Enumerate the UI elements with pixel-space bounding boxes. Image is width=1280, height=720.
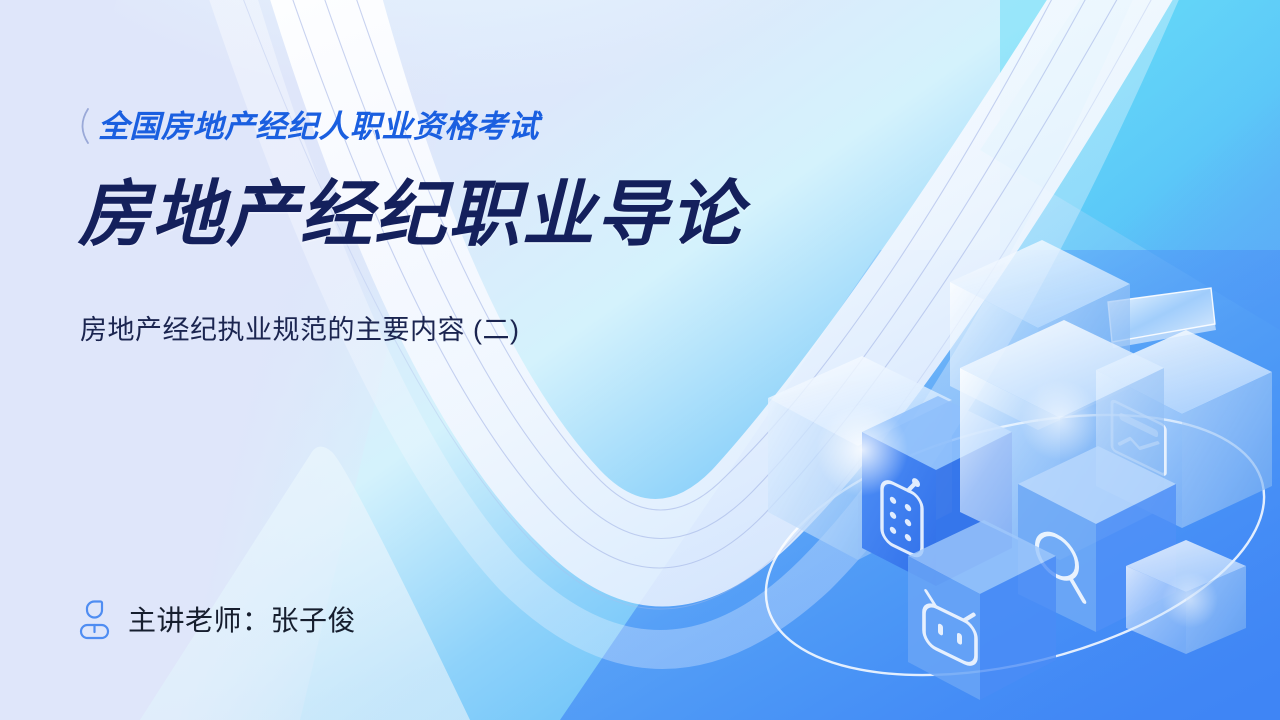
chevron-left-bracket-icon [74, 106, 92, 146]
person-icon [76, 598, 112, 640]
presenter-row: 主讲老师：张子俊 [76, 598, 356, 640]
page-title: 房地产经纪职业导论 [78, 178, 744, 254]
page-subtitle: 房地产经纪执业规范的主要内容 (二) [80, 308, 519, 347]
eyebrow-row: 全国房地产经纪人职业资格考试 [74, 106, 539, 146]
cube-tv [908, 520, 1056, 700]
exam-name: 全国房地产经纪人职业资格考试 [98, 111, 539, 142]
presenter-name: 主讲老师：张子俊 [128, 599, 356, 639]
slide-root: 全国房地产经纪人职业资格考试 房地产经纪职业导论 房地产经纪执业规范的主要内容 … [0, 0, 1280, 720]
